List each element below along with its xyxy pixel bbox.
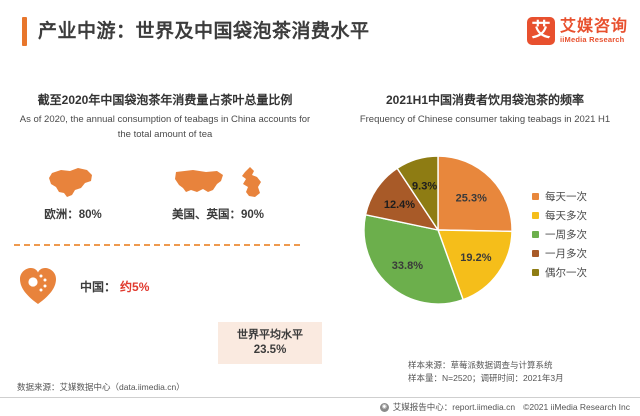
region-china: 中国： 约5% [18, 262, 318, 310]
right-source-note: 样本来源：草莓派数据调查与计算系统 样本量：N=2520；调研时间：2021年3… [408, 359, 564, 385]
legend-swatch-icon [532, 231, 539, 238]
bottom-bar-copyright: ©2021 iiMedia Research Inc [523, 402, 630, 412]
legend-item[interactable]: 每天一次 [532, 188, 587, 205]
title-accent-bar [22, 17, 27, 46]
pie-slice-label: 19.2% [460, 252, 491, 264]
right-panel: 2021H1中国消费者饮用袋泡茶的频率 Frequency of Chinese… [330, 92, 640, 332]
brand-logo: 艾 艾媒咨询 iiMedia Research [527, 14, 628, 48]
region-europe: 欧洲：80% [18, 160, 128, 222]
uk-map-icon [237, 166, 263, 200]
right-panel-title-en: Frequency of Chinese consumer taking tea… [330, 112, 640, 127]
legend-item[interactable]: 一月多次 [532, 245, 587, 262]
globe-icon: ◉ [380, 403, 389, 412]
slide-root: 产业中游：世界及中国袋泡茶消费水平 艾 艾媒咨询 iiMedia Researc… [0, 0, 640, 416]
pie-chart-svg: 25.3%19.2%33.8%12.4%9.3% [358, 154, 518, 306]
slide-header: 产业中游：世界及中国袋泡茶消费水平 艾 艾媒咨询 iiMedia Researc… [0, 0, 640, 62]
legend-item[interactable]: 偶尔一次 [532, 264, 587, 281]
region-china-value: 约5% [120, 278, 149, 295]
bottom-bar: ◉ 艾媒报告中心：report.iimedia.cn ©2021 iiMedia… [0, 398, 640, 416]
logo-mark-icon: 艾 [527, 17, 555, 45]
sample-size-line: 样本量：N=2520；调研时间：2021年3月 [408, 372, 564, 385]
region-usa-uk-label: 美国、英国：90% [128, 206, 308, 222]
legend-label: 每天多次 [545, 208, 587, 223]
legend-swatch-icon [532, 193, 539, 200]
legend-item[interactable]: 一周多次 [532, 226, 587, 243]
legend-swatch-icon [532, 212, 539, 219]
legend-item[interactable]: 每天多次 [532, 207, 587, 224]
legend-label: 每天一次 [545, 189, 587, 204]
region-china-label: 中国： [80, 278, 116, 295]
logo-name-en: iiMedia Research [560, 35, 628, 45]
pie-slice-label: 9.3% [412, 180, 437, 192]
china-heart-flag-icon [18, 267, 58, 305]
right-panel-title-cn: 2021H1中国消费者饮用袋泡茶的频率 [330, 92, 640, 108]
pie-chart: 25.3%19.2%33.8%12.4%9.3% [358, 154, 518, 306]
europe-map-icon [47, 164, 99, 200]
usa-uk-map-line [128, 160, 308, 200]
page-title: 产业中游：世界及中国袋泡茶消费水平 [38, 16, 370, 43]
region-row: 欧洲：80% 美国、英国：90% [0, 160, 330, 230]
world-average-value: 23.5% [254, 343, 287, 358]
left-panel-title-cn: 截至2020年中国袋泡茶年消费量占茶叶总量比例 [0, 92, 330, 108]
sample-source-line: 样本来源：草莓派数据调查与计算系统 [408, 359, 564, 372]
pie-slice-label: 25.3% [456, 192, 487, 204]
logo-text: 艾媒咨询 iiMedia Research [560, 18, 628, 45]
legend-swatch-icon [532, 269, 539, 276]
bottom-bar-label[interactable]: 艾媒报告中心：report.iimedia.cn [393, 401, 515, 413]
left-panel: 截至2020年中国袋泡茶年消费量占茶叶总量比例 As of 2020, the … [0, 92, 330, 332]
legend-label: 一月多次 [545, 246, 587, 261]
europe-map-line [18, 160, 128, 200]
pie-chart-legend: 每天一次每天多次一周多次一月多次偶尔一次 [532, 188, 587, 283]
usa-map-icon [173, 166, 227, 200]
left-source-note: 数据来源：艾媒数据中心（data.iimedia.cn） [17, 381, 185, 393]
logo-name-cn: 艾媒咨询 [560, 18, 628, 35]
pie-slice-label: 12.4% [384, 199, 415, 211]
world-average-title: 世界平均水平 [237, 328, 303, 343]
region-europe-label: 欧洲：80% [18, 206, 128, 222]
pie-slice-label: 33.8% [392, 260, 423, 272]
world-average-dashed-line [14, 244, 300, 246]
legend-label: 一周多次 [545, 227, 587, 242]
world-average-box: 世界平均水平 23.5% [218, 322, 322, 364]
legend-swatch-icon [532, 250, 539, 257]
left-panel-title-en: As of 2020, the annual consumption of te… [0, 112, 330, 142]
region-usa-uk: 美国、英国：90% [128, 160, 308, 222]
legend-label: 偶尔一次 [545, 265, 587, 280]
